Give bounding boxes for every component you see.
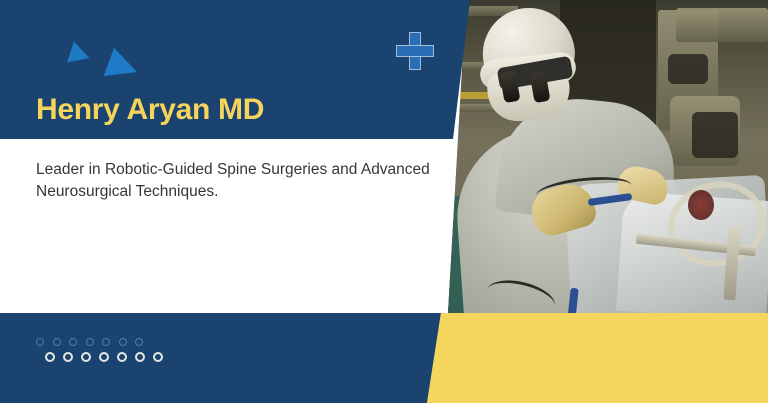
dot [69,338,77,346]
surgical-site [688,190,714,220]
dot [45,352,55,362]
dot-row-top [36,338,143,346]
dot [135,338,143,346]
dot [53,338,61,346]
dot [135,352,145,362]
or-equipment [676,8,768,42]
promotional-banner: Henry Aryan MD Leader in Robotic-Guided … [0,0,768,403]
bottom-bar-yellow [420,313,768,403]
dot [153,352,163,362]
dot [63,352,73,362]
dot [86,338,94,346]
dot [117,352,127,362]
dot [81,352,91,362]
arrow-triangle-small-icon [67,41,93,68]
dot-row-bottom [45,352,163,362]
dot [102,338,110,346]
surgery-photo [440,0,768,313]
dot [119,338,127,346]
page-title: Henry Aryan MD [36,95,264,125]
banner-subtitle: Leader in Robotic-Guided Spine Surgeries… [36,159,436,204]
dot [36,338,44,346]
or-equipment-dark [668,54,708,84]
arrow-triangle-large-icon [104,48,142,86]
or-equipment-dark [692,112,738,158]
dot [99,352,109,362]
plus-icon [396,32,434,70]
surgery-photo-image [440,0,768,313]
